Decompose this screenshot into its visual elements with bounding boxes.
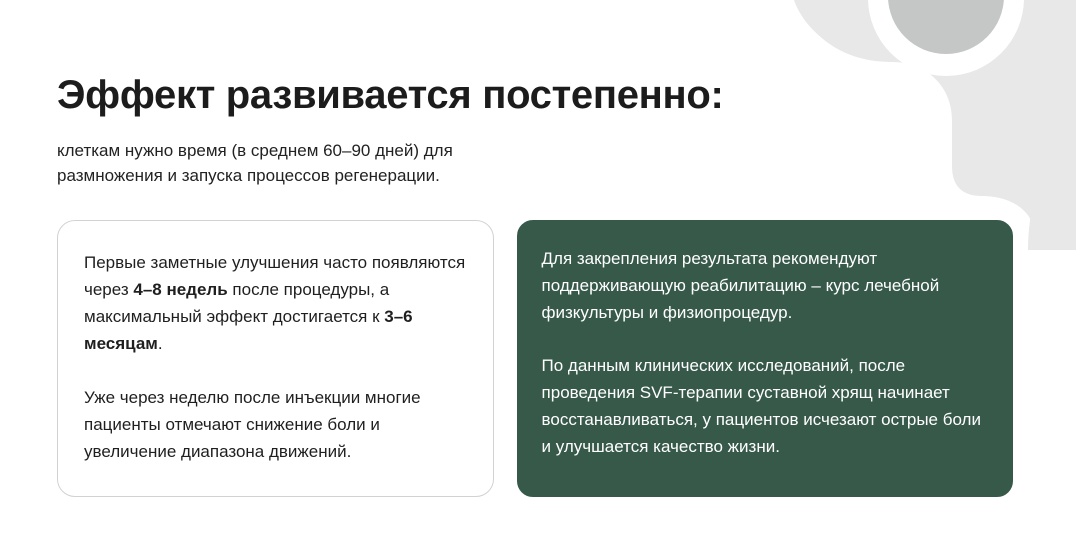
card-light: Первые заметные улучшения часто появляют… [57, 220, 494, 497]
card-dark: Для закрепления результата рекомендуют п… [517, 220, 1013, 497]
body-text: Уже через неделю после инъекции многие п… [84, 388, 421, 461]
card-paragraph: По данным клинических исследований, посл… [542, 352, 986, 460]
header-block: Эффект развивается постепенно: клеткам н… [57, 72, 937, 188]
decorative-ring [868, 0, 1024, 76]
body-text: . [158, 334, 163, 353]
emphasis-text: 4–8 недель [133, 280, 227, 299]
page-title: Эффект развивается постепенно: [57, 72, 937, 118]
card-paragraph: Уже через неделю после инъекции многие п… [84, 384, 467, 465]
decorative-circle [888, 0, 1004, 54]
card-paragraph: Первые заметные улучшения часто появляют… [84, 249, 467, 357]
slide-canvas: Эффект развивается постепенно: клеткам н… [0, 0, 1076, 548]
subtitle-line: размножения и запуска процессов регенера… [57, 163, 937, 188]
page-subtitle: клеткам нужно время (в среднем 60–90 дне… [57, 138, 937, 188]
card-paragraph: Для закрепления результата рекомендуют п… [542, 245, 986, 326]
body-text: По данным клинических исследований, посл… [542, 356, 981, 456]
subtitle-line: клеткам нужно время (в среднем 60–90 дне… [57, 138, 937, 163]
body-text: Для закрепления результата рекомендуют п… [542, 249, 940, 322]
cards-row: Первые заметные улучшения часто появляют… [57, 220, 1013, 497]
decorative-blob-edge [1028, 96, 1076, 250]
